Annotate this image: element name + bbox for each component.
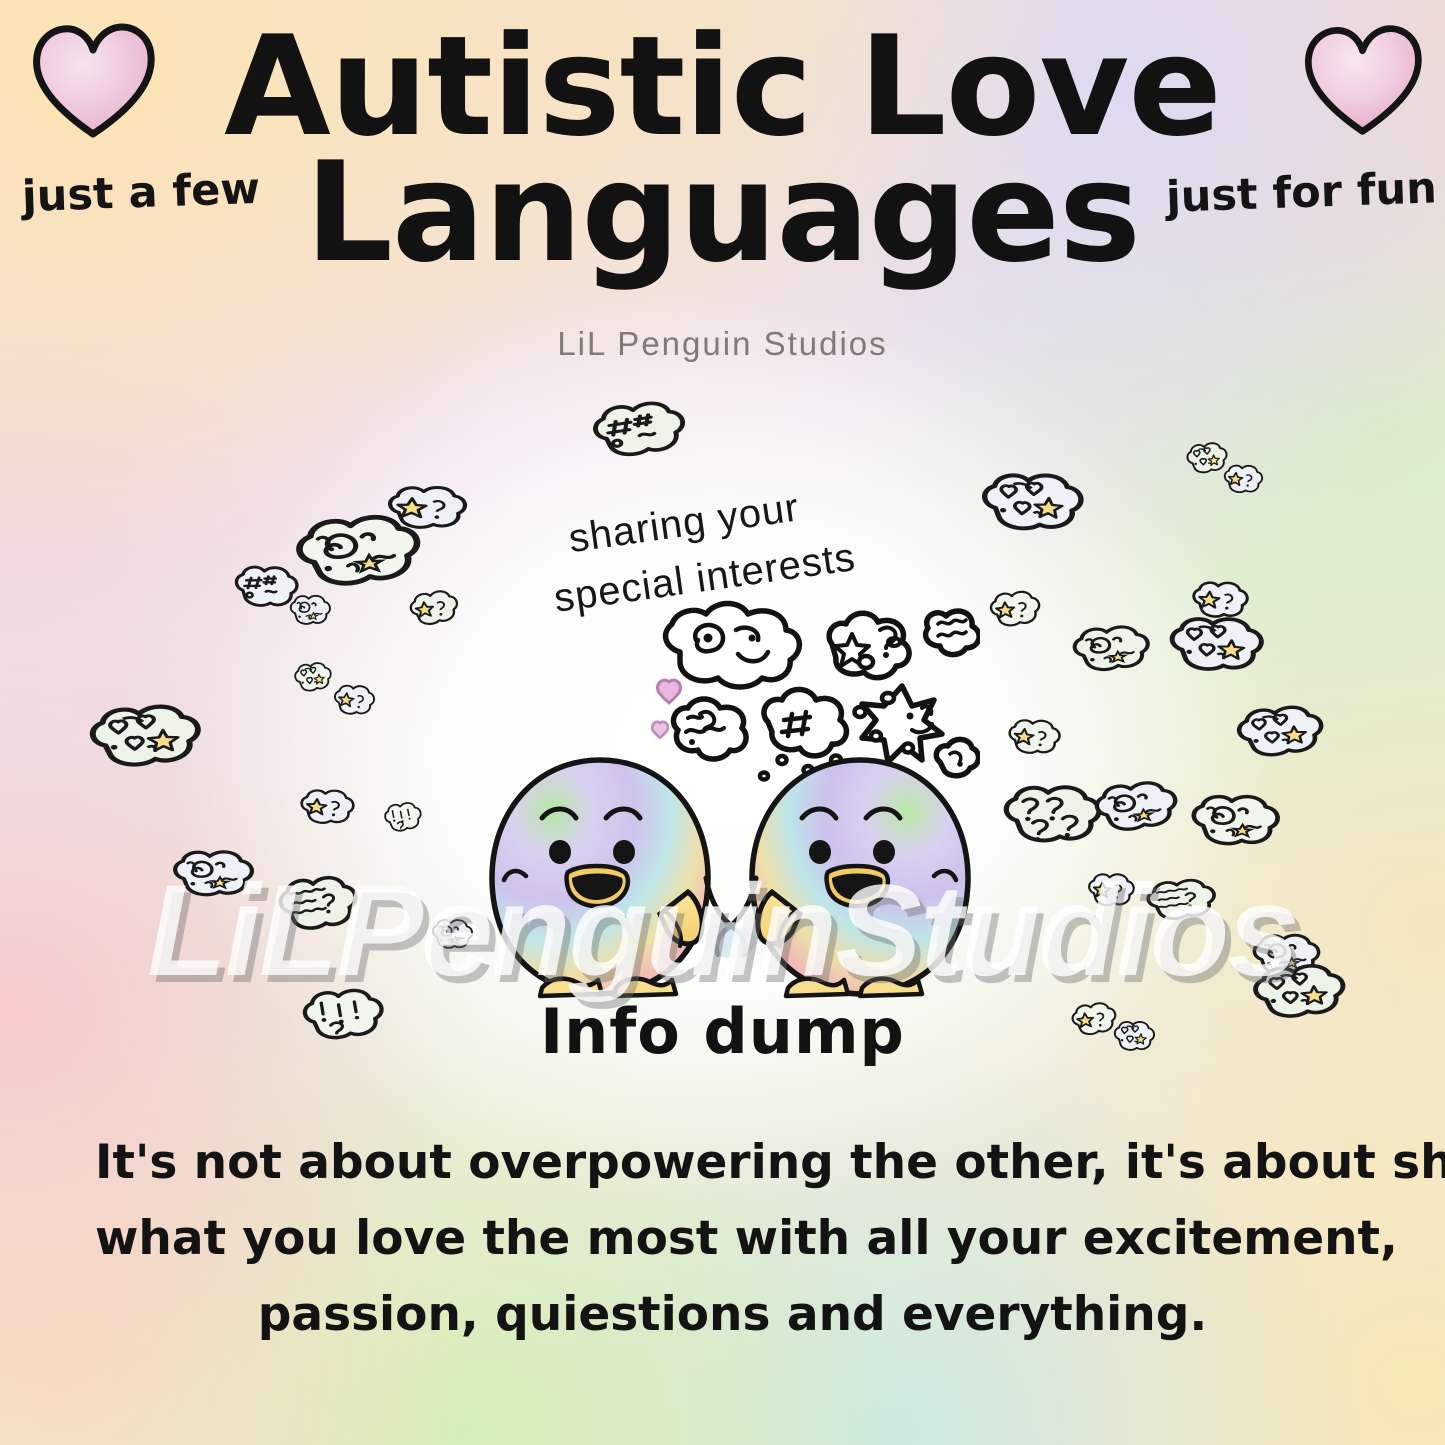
penguin-pair-illustration bbox=[460, 700, 1000, 1030]
doodle-cloud-swirl bbox=[1090, 775, 1182, 841]
doodle-cloud-swirl bbox=[1186, 788, 1283, 857]
poster-canvas: Autistic Love Languages just a few just … bbox=[0, 0, 1445, 1445]
doodle-cloud-star bbox=[1085, 868, 1138, 913]
penguin-right bbox=[752, 760, 968, 996]
doodle-cloud-heart bbox=[1232, 700, 1327, 767]
touching-flippers bbox=[704, 878, 756, 958]
doodle-cloud-star bbox=[1004, 714, 1064, 763]
doodle-cloud-swirl bbox=[287, 591, 333, 631]
doodle-cloud-heart bbox=[1164, 609, 1267, 682]
doodle-cloud-star bbox=[406, 585, 462, 632]
doodle-cloud-heart bbox=[85, 698, 206, 778]
doodle-cloud-squig bbox=[274, 870, 361, 940]
doodle-cloud-swirl bbox=[1069, 621, 1153, 680]
tagline-right: just for fun bbox=[1165, 163, 1437, 222]
doodle-cloud-hash bbox=[588, 395, 690, 468]
doodle-cloud-star bbox=[987, 587, 1043, 634]
doodle-cloud-quest bbox=[999, 778, 1105, 854]
doodle-cloud-excl bbox=[382, 798, 425, 837]
body-line-2: what you love the most with all your exc… bbox=[95, 1201, 1370, 1277]
doodle-cloud-star bbox=[1221, 460, 1266, 500]
studio-credit: LiL Penguin Studios bbox=[0, 325, 1445, 363]
tagline-left: just a few bbox=[21, 164, 261, 222]
doodle-cloud-star bbox=[297, 784, 358, 832]
doodle-cloud-heart bbox=[292, 659, 334, 698]
doodle-cloud-swirl bbox=[290, 507, 426, 600]
body-line-3: passion, quiestions and everything. bbox=[95, 1277, 1370, 1353]
doodle-cloud-star bbox=[330, 680, 378, 722]
info-dump-label: Info dump bbox=[0, 995, 1445, 1068]
penguin-left bbox=[492, 760, 708, 996]
doodle-cloud-squig bbox=[1143, 874, 1220, 928]
body-copy: It's not about overpowering the other, i… bbox=[95, 1125, 1370, 1353]
doodle-cloud-swirl bbox=[169, 845, 257, 906]
body-line-1: It's not about overpowering the other, i… bbox=[95, 1125, 1370, 1201]
doodle-cloud-heart bbox=[976, 465, 1088, 543]
